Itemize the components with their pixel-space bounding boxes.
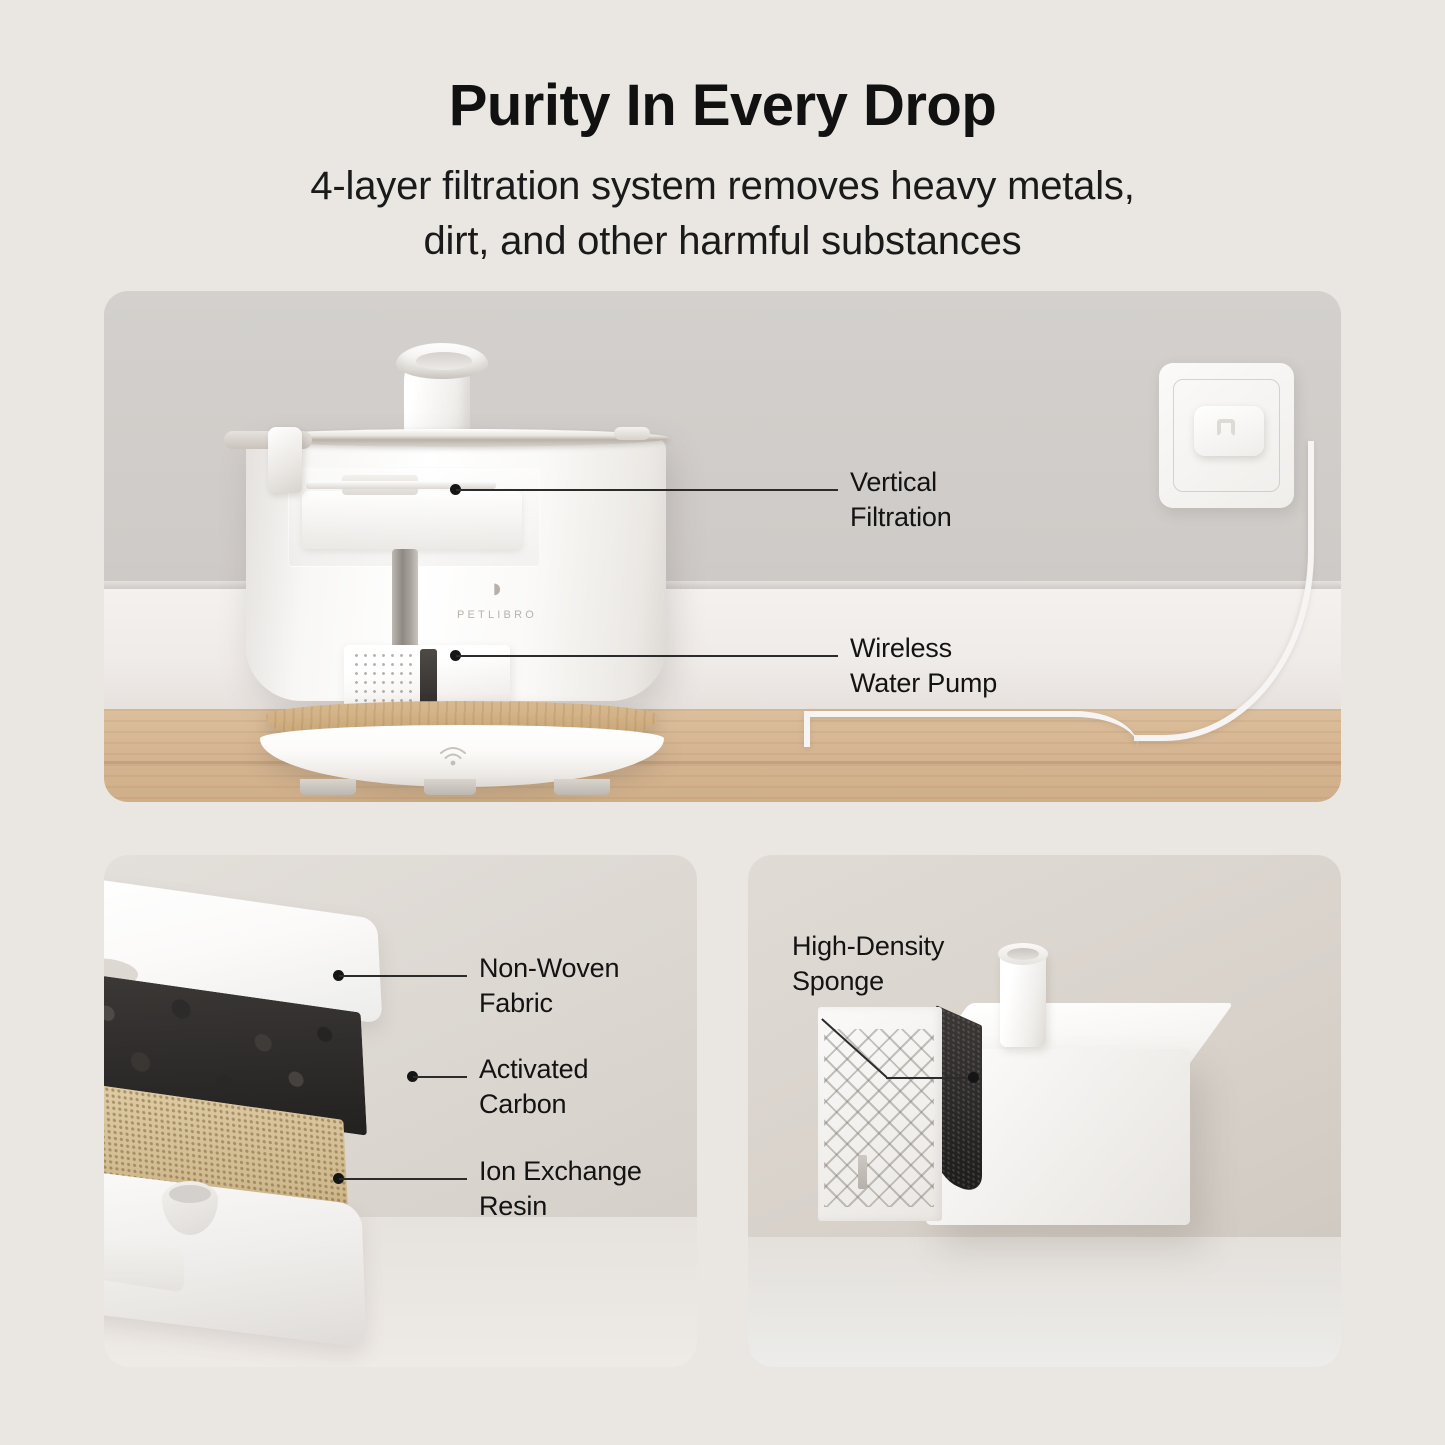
callout-label-wireless-water-pump: Wireless Water Pump: [850, 631, 997, 701]
callout-leader-activated-carbon: [413, 1076, 467, 1078]
brand-name-label: PETLIBRO: [432, 609, 562, 621]
high-density-sponge: [936, 1005, 982, 1197]
base-foot-right: [554, 779, 610, 795]
pump-front-mesh: [824, 1029, 934, 1207]
callout-label-ion-exchange-resin: Ion Exchange Resin: [479, 1154, 642, 1224]
fountain-spout-lip: [396, 343, 488, 379]
brand-glyph-icon: ◗: [432, 575, 562, 602]
panel-filter-layers-scene: Non-Woven Fabric Activated Carbon Ion Ex…: [104, 855, 697, 1367]
callout-label-activated-carbon: Activated Carbon: [479, 1052, 588, 1122]
callout-leader-ion-exchange-resin: [339, 1178, 467, 1180]
subtitle-line-2: dirt, and other harmful substances: [0, 214, 1445, 269]
page-subtitle: 4-layer filtration system removes heavy …: [0, 159, 1445, 269]
filter-tray: [302, 491, 522, 549]
callout-label-non-woven-fabric: Non-Woven Fabric: [479, 951, 619, 1021]
filter-layers-background: Non-Woven Fabric Activated Carbon Ion Ex…: [104, 855, 697, 1367]
room-background: ◗ PETLIBRO Vertical Filtration: [104, 291, 1341, 802]
callout-label-high-density-sponge: High-Density Sponge: [792, 929, 944, 999]
wifi-icon: [438, 745, 468, 767]
water-fountain: ◗ PETLIBRO: [224, 349, 744, 779]
brand-logo: ◗ PETLIBRO: [432, 575, 562, 621]
fountain-rim-tab: [614, 427, 650, 440]
pump-sponge-background: High-Density Sponge: [748, 855, 1341, 1367]
fountain-handle-clip: [268, 427, 302, 493]
base-foot-left: [300, 779, 356, 795]
page-title: Purity In Every Drop: [0, 76, 1445, 137]
panel-fountain-scene: ◗ PETLIBRO Vertical Filtration: [104, 291, 1341, 802]
base-foot-center: [424, 779, 476, 795]
panel-pump-sponge-scene: High-Density Sponge: [748, 855, 1341, 1367]
power-cable-horizontal: [804, 711, 1138, 747]
pump-outlet-nozzle-opening: [998, 943, 1048, 965]
subtitle-line-1: 4-layer filtration system removes heavy …: [0, 159, 1445, 214]
callout-leader-vertical-filtration: [456, 489, 838, 491]
callout-leader-high-density-sponge: [886, 1077, 973, 1079]
pump-front-slot: [858, 1155, 867, 1189]
pump-scene-floor: [748, 1237, 1341, 1367]
header-block: Purity In Every Drop 4-layer filtration …: [0, 0, 1445, 269]
plug-prong-slot: [1217, 419, 1235, 437]
callout-label-vertical-filtration: Vertical Filtration: [850, 465, 952, 535]
filter-tray-slat: [306, 481, 496, 489]
callout-leader-wireless-water-pump: [456, 655, 838, 657]
callout-dot-high-density-sponge: [968, 1072, 979, 1083]
callout-leader-non-woven-fabric: [339, 975, 467, 977]
pump-outlet-nozzle: [1000, 951, 1046, 1047]
